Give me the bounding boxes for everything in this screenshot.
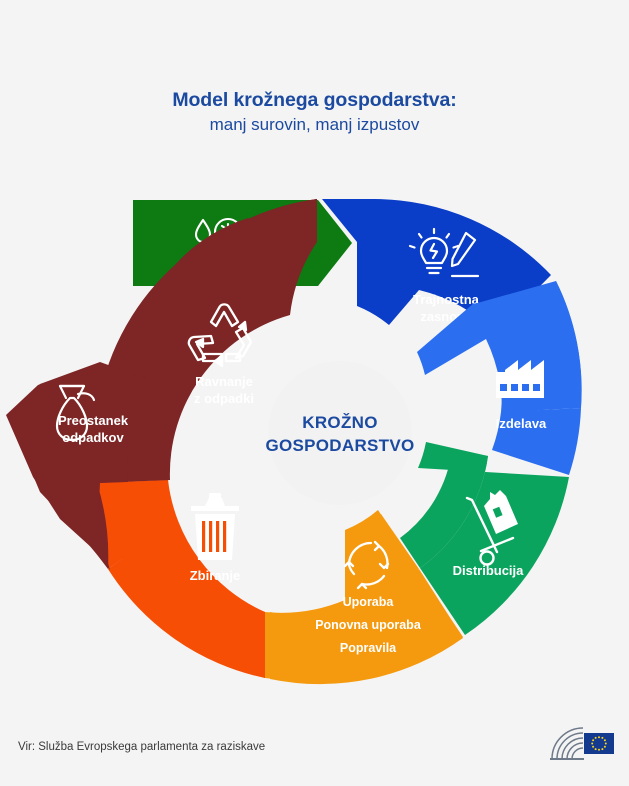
hemicycle-arcs-icon [552, 728, 583, 759]
center-label-line1: KROŽNO [302, 413, 377, 432]
uporaba-label-line1: Uporaba [343, 595, 395, 609]
source-text: Vir: Služba Evropskega parlamenta za raz… [18, 741, 265, 753]
trajnostna-zasnova-label-line1: Trajnostna [413, 292, 480, 307]
ravnanje-z-odpadki-label-line1: Ravnanje [195, 374, 253, 389]
title-subtitle: manj surovin, manj izpustov [0, 114, 629, 137]
eu-flag-icon [584, 733, 614, 754]
european-parliament-logo [548, 718, 616, 764]
hemicycle-base-icon [550, 758, 584, 760]
uporaba-label-line3: Popravila [340, 641, 397, 655]
segment-zbiranje[interactable]: Zbiranje [97, 480, 265, 678]
izdelava-label: Izdelava [496, 416, 547, 431]
page-title: Model krožnega gospodarstva: manj surovi… [0, 88, 629, 137]
circular-economy-diagram: Surovine Trajnostna zasnova [0, 180, 629, 700]
zbiranje-label: Zbiranje [190, 568, 241, 583]
preostanek-odpadkov-label-line1: Preostanek [58, 413, 129, 428]
ravnanje-z-odpadki-label-line2: z odpadki [194, 391, 254, 406]
title-main: Model krožnega gospodarstva: [0, 88, 629, 112]
center-label-line2: GOSPODARSTVO [265, 436, 414, 455]
center-hub: KROŽNO GOSPODARSTVO [265, 361, 414, 505]
preostanek-odpadkov-label-line2: odpadkov [62, 430, 124, 445]
center-hub-circle [268, 361, 412, 505]
uporaba-label-line2: Ponovna uporaba [315, 618, 422, 632]
trash-bin-icon [191, 493, 239, 560]
distribucija-label: Distribucija [453, 563, 525, 578]
